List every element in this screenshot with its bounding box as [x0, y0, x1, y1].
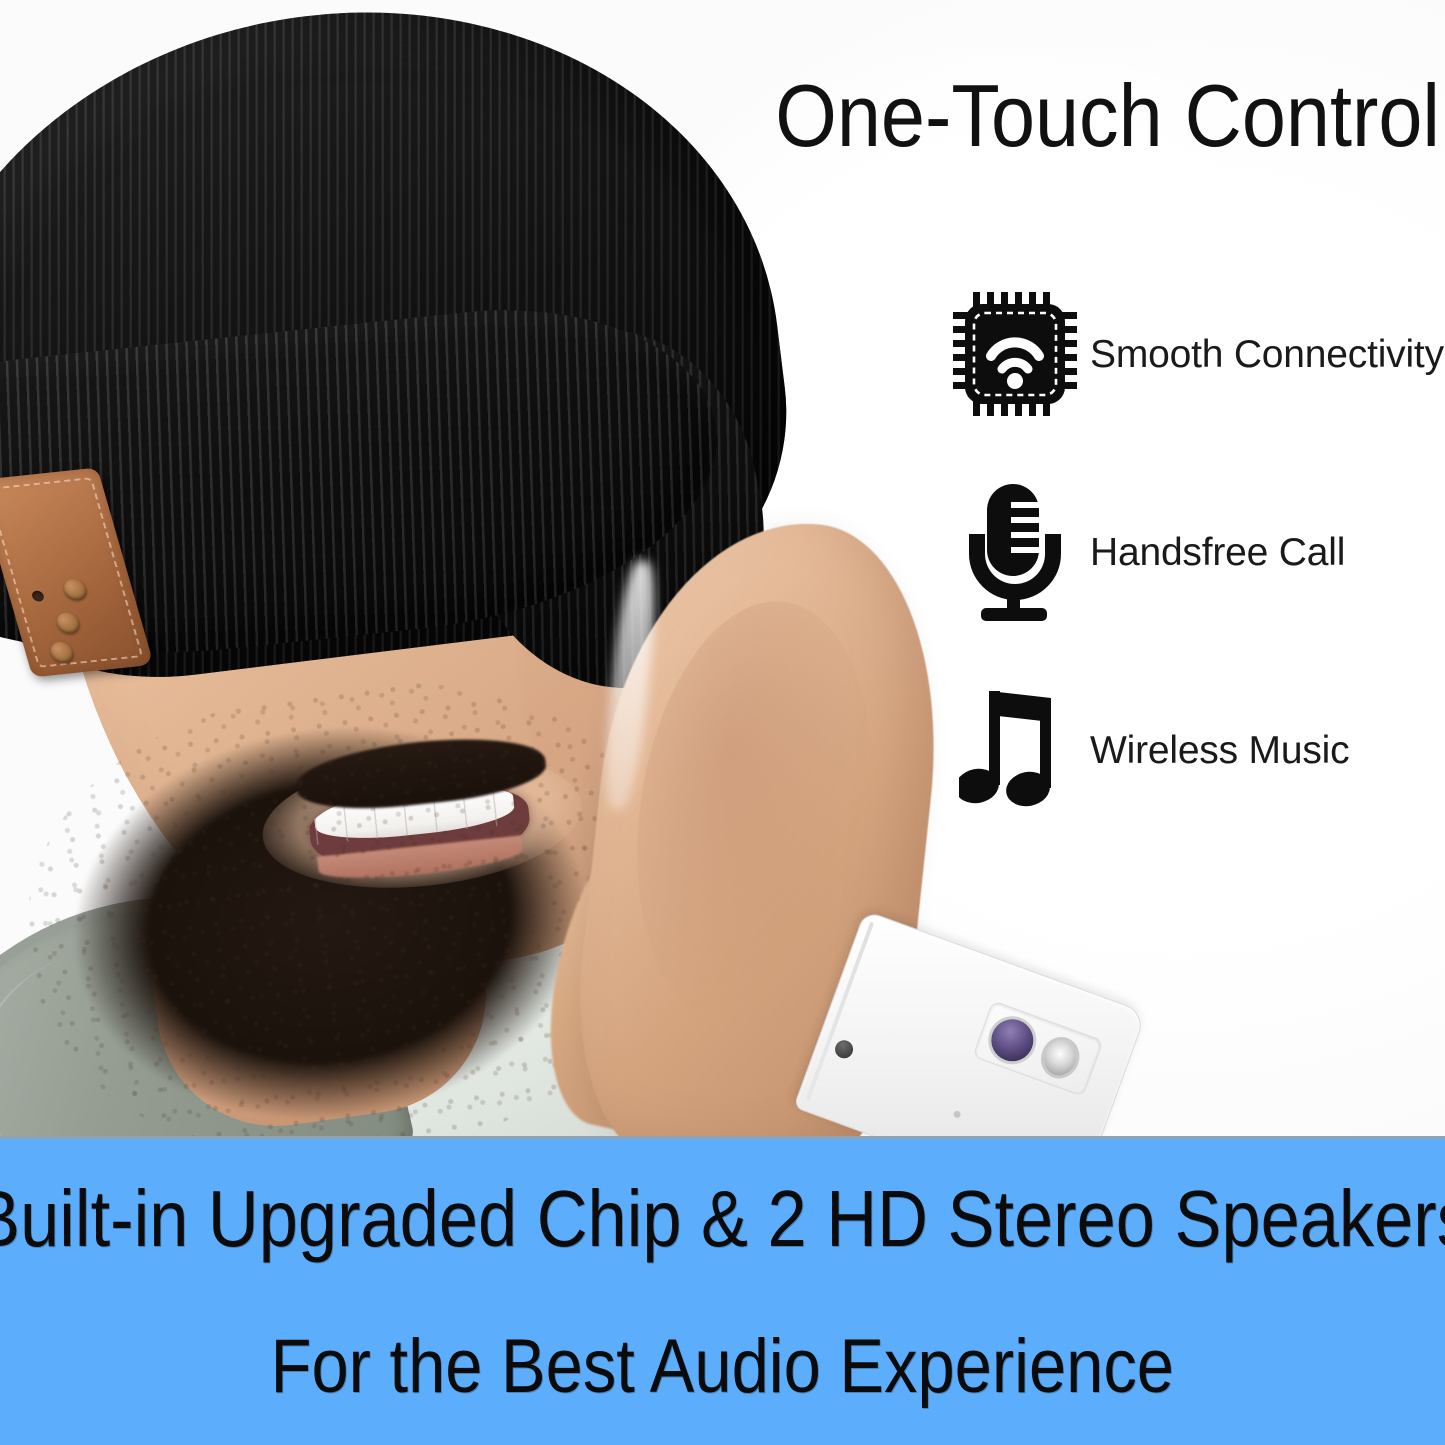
banner-headline-line-2: For the Best Audio Experience: [271, 1329, 1174, 1405]
feature-item-music: Wireless Music: [950, 676, 1445, 824]
product-photo: One-Touch Control: [0, 0, 1445, 1136]
phone-camera-module: [972, 1000, 1103, 1097]
chip-wifi-icon: [950, 292, 1080, 416]
feature-list: Smooth Connectivity: [950, 280, 1445, 874]
phone-sensor-dot: [953, 1110, 962, 1119]
feature-label-connectivity: Smooth Connectivity: [1080, 335, 1444, 374]
camera-lens-icon: [985, 1013, 1039, 1067]
feature-item-connectivity: Smooth Connectivity: [950, 280, 1445, 428]
feature-item-handsfree: Handsfree Call: [950, 478, 1445, 626]
music-note-icon: [950, 685, 1080, 815]
camera-flash-icon: [1039, 1035, 1081, 1080]
bottom-banner: Built-in Upgraded Chip & 2 HD Stereo Spe…: [0, 1136, 1445, 1445]
banner-headline-line-1: Built-in Upgraded Chip & 2 HD Stereo Spe…: [0, 1179, 1445, 1259]
product-poster: One-Touch Control: [0, 0, 1445, 1445]
page-title: One-Touch Control: [684, 72, 1440, 160]
feature-label-handsfree: Handsfree Call: [1080, 533, 1345, 572]
microphone-icon: [950, 482, 1080, 622]
phone-side-button: [833, 1038, 856, 1061]
feature-label-music: Wireless Music: [1080, 731, 1349, 770]
